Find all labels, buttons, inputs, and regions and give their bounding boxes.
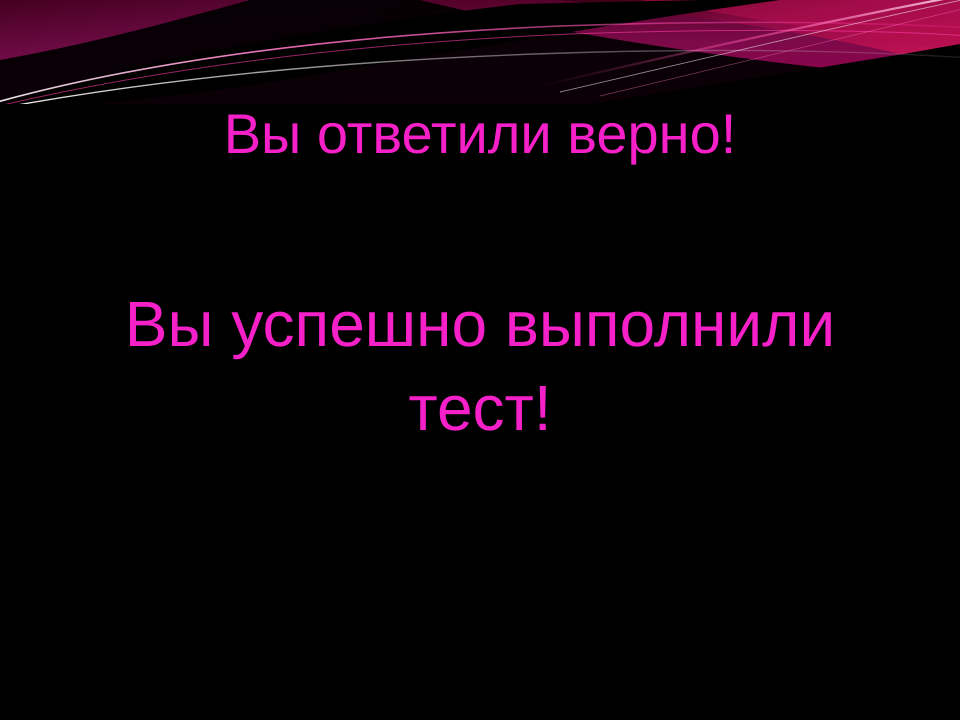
- slide-text-block: Вы ответили верно! Вы успешно выполнили …: [0, 0, 960, 720]
- presentation-slide: Вы ответили верно! Вы успешно выполнили …: [0, 0, 960, 720]
- slide-body-line-2: тест!: [0, 371, 960, 445]
- slide-body-line-1: Вы успешно выполнили: [0, 287, 960, 361]
- slide-heading-line-1: Вы ответили верно!: [0, 101, 960, 167]
